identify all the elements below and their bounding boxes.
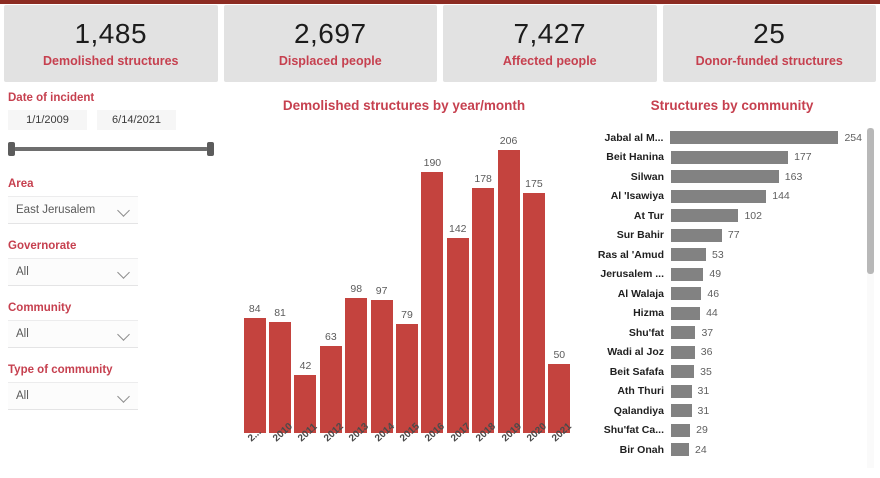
- community-bar-row[interactable]: Jerusalem ...49: [584, 265, 862, 285]
- column-bar[interactable]: [345, 298, 367, 433]
- column-bar[interactable]: [421, 172, 443, 433]
- community-bar-value: 177: [794, 151, 812, 163]
- chart-title-demolished-by-year: Demolished structures by year/month: [228, 98, 580, 113]
- governorate-dropdown-value: All: [8, 266, 116, 278]
- column-bar[interactable]: [269, 322, 291, 433]
- community-bar-row[interactable]: Qalandiya31: [584, 401, 862, 421]
- community-bar-fill[interactable]: [671, 307, 700, 320]
- column-bar[interactable]: [396, 324, 418, 433]
- column-bar[interactable]: [472, 188, 494, 433]
- filter-label-community: Community: [8, 302, 222, 314]
- community-bar-fill[interactable]: [671, 346, 695, 359]
- community-bar-track: 44: [671, 304, 862, 324]
- chart-demolished-by-year: Demolished structures by year/month 8481…: [228, 92, 580, 478]
- community-bar-value: 24: [695, 444, 707, 456]
- community-dropdown[interactable]: All: [8, 320, 138, 348]
- column-value-label: 81: [260, 307, 300, 319]
- community-bar-track: 254: [670, 128, 862, 148]
- kpi-card-demolished-structures[interactable]: 1,485 Demolished structures: [4, 5, 218, 82]
- chevron-down-icon: [116, 388, 132, 404]
- filter-label-area: Area: [8, 178, 222, 190]
- community-bar-row[interactable]: Beit Safafa35: [584, 362, 862, 382]
- community-bar-fill[interactable]: [671, 365, 694, 378]
- community-bar-row[interactable]: At Tur102: [584, 206, 862, 226]
- dashboard-page: 1,485 Demolished structures 2,697 Displa…: [0, 0, 880, 478]
- kpi-value: 2,697: [294, 19, 367, 48]
- community-bar-row[interactable]: Shu'fat Ca...29: [584, 421, 862, 441]
- filter-label-date: Date of incident: [8, 92, 222, 104]
- column-bar[interactable]: [523, 193, 545, 433]
- community-bar-value: 36: [701, 346, 713, 358]
- community-bar-label: Wadi al Joz: [584, 346, 671, 358]
- top-accent-strip: [0, 0, 880, 4]
- community-bar-label: Al Walaja: [584, 288, 671, 300]
- slider-track: [14, 147, 208, 151]
- community-bar-track: 46: [671, 284, 862, 304]
- date-start-input[interactable]: 1/1/2009: [8, 110, 87, 130]
- kpi-card-affected-people[interactable]: 7,427 Affected people: [443, 5, 657, 82]
- community-bar-label: Hizma: [584, 307, 671, 319]
- community-bar-value: 46: [707, 288, 719, 300]
- community-bar-fill[interactable]: [671, 268, 703, 281]
- column-chart-plot-area: 8481426398977919014217820617550: [242, 128, 572, 433]
- chevron-down-icon: [116, 264, 132, 280]
- column-bar[interactable]: [320, 346, 342, 433]
- community-bar-row[interactable]: Wadi al Joz36: [584, 343, 862, 363]
- chart-title-structures-by-community: Structures by community: [584, 98, 880, 113]
- community-bar-fill[interactable]: [671, 170, 779, 183]
- community-bar-track: 31: [671, 382, 862, 402]
- community-bar-row[interactable]: Ath Thuri31: [584, 382, 862, 402]
- community-bar-row[interactable]: Silwan163: [584, 167, 862, 187]
- community-bar-value: 77: [728, 229, 740, 241]
- community-bar-list: Jabal al M...254Beit Hanina177Silwan163A…: [584, 128, 862, 460]
- community-bar-fill[interactable]: [671, 287, 701, 300]
- community-bar-track: 37: [671, 323, 862, 343]
- community-bar-value: 49: [709, 268, 721, 280]
- kpi-label: Demolished structures: [43, 54, 178, 68]
- community-bar-label: Qalandiya: [584, 405, 671, 417]
- community-bar-fill[interactable]: [671, 443, 689, 456]
- community-bar-value: 53: [712, 249, 724, 261]
- scrollbar-thumb[interactable]: [867, 128, 874, 274]
- governorate-dropdown[interactable]: All: [8, 258, 138, 286]
- slider-handle-right[interactable]: [207, 142, 214, 156]
- type-of-community-dropdown[interactable]: All: [8, 382, 138, 410]
- area-dropdown-value: East Jerusalem: [8, 204, 116, 216]
- date-range-slider[interactable]: [8, 142, 214, 156]
- community-bar-fill[interactable]: [671, 229, 722, 242]
- chevron-down-icon: [116, 202, 132, 218]
- community-bar-label: Ras al 'Amud: [584, 249, 671, 261]
- community-bar-label: Jabal al M...: [584, 132, 670, 144]
- community-bar-value: 44: [706, 307, 718, 319]
- kpi-label: Displaced people: [279, 54, 382, 68]
- chevron-down-icon: [116, 326, 132, 342]
- community-bar-value: 102: [744, 210, 762, 222]
- column-value-label: 175: [514, 178, 554, 190]
- community-bar-label: Bir Onah: [584, 444, 671, 456]
- kpi-label: Affected people: [503, 54, 597, 68]
- community-bar-label: Beit Hanina: [584, 151, 671, 163]
- community-bar-label: Ath Thuri: [584, 385, 671, 397]
- community-bar-track: 31: [671, 401, 862, 421]
- community-bar-track: 177: [671, 148, 862, 168]
- slider-handle-left[interactable]: [8, 142, 15, 156]
- community-bar-fill[interactable]: [671, 404, 692, 417]
- column-bar[interactable]: [244, 318, 266, 433]
- community-bar-fill[interactable]: [671, 424, 690, 437]
- column-value-label: 206: [489, 135, 529, 147]
- community-chart-scrollbar[interactable]: [867, 128, 874, 468]
- community-bar-row[interactable]: Beit Hanina177: [584, 148, 862, 168]
- community-bar-row[interactable]: Shu'fat37: [584, 323, 862, 343]
- kpi-card-donor-funded-structures[interactable]: 25 Donor-funded structures: [663, 5, 877, 82]
- community-bar-label: Silwan: [584, 171, 671, 183]
- type-of-community-dropdown-value: All: [8, 390, 116, 402]
- community-bar-fill[interactable]: [671, 385, 692, 398]
- community-bar-label: Shu'fat: [584, 327, 671, 339]
- community-bar-row[interactable]: Sur Bahir77: [584, 226, 862, 246]
- date-end-input[interactable]: 6/14/2021: [97, 110, 176, 130]
- community-bar-label: At Tur: [584, 210, 671, 222]
- date-range-inputs: 1/1/2009 6/14/2021: [8, 110, 222, 130]
- community-bar-value: 37: [701, 327, 713, 339]
- community-bar-track: 24: [671, 440, 862, 460]
- community-bar-value: 35: [700, 366, 712, 378]
- area-dropdown[interactable]: East Jerusalem: [8, 196, 138, 224]
- column-chart-x-axis: 2...201020112012201320142015201620172018…: [242, 436, 572, 476]
- filter-governorate: Governorate All: [0, 240, 222, 286]
- community-bar-fill[interactable]: [671, 190, 766, 203]
- community-bar-value: 31: [698, 405, 710, 417]
- filter-community: Community All: [0, 302, 222, 348]
- community-bar-track: 77: [671, 226, 862, 246]
- chart-structures-by-community: Structures by community Jabal al M...254…: [584, 92, 880, 478]
- kpi-card-row: 1,485 Demolished structures 2,697 Displa…: [0, 5, 880, 82]
- community-bar-row[interactable]: Hizma44: [584, 304, 862, 324]
- community-bar-row[interactable]: Ras al 'Amud53: [584, 245, 862, 265]
- community-bar-track: 36: [671, 343, 862, 363]
- community-bar-track: 49: [671, 265, 862, 285]
- filter-label-type-of-community: Type of community: [8, 364, 222, 376]
- community-bar-value: 163: [785, 171, 803, 183]
- column-value-label: 97: [362, 285, 402, 297]
- column-bar[interactable]: [498, 150, 520, 433]
- community-bar-row[interactable]: Jabal al M...254: [584, 128, 862, 148]
- community-bar-row[interactable]: Al 'Isawiya144: [584, 187, 862, 207]
- filter-area: Area East Jerusalem: [0, 178, 222, 224]
- community-bar-label: Sur Bahir: [584, 229, 671, 241]
- column-value-label: 50: [539, 349, 579, 361]
- community-dropdown-value: All: [8, 328, 116, 340]
- community-bar-track: 53: [671, 245, 862, 265]
- kpi-value: 25: [753, 19, 785, 48]
- community-bar-track: 29: [671, 421, 862, 441]
- filter-date-of-incident: Date of incident 1/1/2009 6/14/2021: [0, 92, 222, 156]
- community-bar-value: 29: [696, 424, 708, 436]
- community-bar-fill[interactable]: [671, 248, 706, 261]
- kpi-value: 7,427: [513, 19, 586, 48]
- column-value-label: 190: [412, 157, 452, 169]
- community-bar-fill[interactable]: [671, 326, 695, 339]
- kpi-card-displaced-people[interactable]: 2,697 Displaced people: [224, 5, 438, 82]
- community-bar-label: Jerusalem ...: [584, 268, 671, 280]
- filter-type-of-community: Type of community All: [0, 364, 222, 410]
- community-bar-value: 144: [772, 190, 790, 202]
- community-bar-label: Al 'Isawiya: [584, 190, 671, 202]
- filter-panel: Date of incident 1/1/2009 6/14/2021 Area…: [0, 92, 222, 478]
- community-bar-label: Beit Safafa: [584, 366, 671, 378]
- community-bar-track: 35: [671, 362, 862, 382]
- community-bar-row[interactable]: Al Walaja46: [584, 284, 862, 304]
- kpi-value: 1,485: [74, 19, 147, 48]
- community-bar-fill[interactable]: [671, 151, 788, 164]
- filter-label-governorate: Governorate: [8, 240, 222, 252]
- community-bar-track: 144: [671, 187, 862, 207]
- community-bar-fill[interactable]: [671, 209, 738, 222]
- community-bar-value: 31: [698, 385, 710, 397]
- community-bar-track: 163: [671, 167, 862, 187]
- community-bar-value: 254: [844, 132, 862, 144]
- community-bar-row[interactable]: Bir Onah24: [584, 440, 862, 460]
- community-bar-fill[interactable]: [670, 131, 838, 144]
- kpi-label: Donor-funded structures: [696, 54, 843, 68]
- column-bar[interactable]: [447, 238, 469, 433]
- community-bar-track: 102: [671, 206, 862, 226]
- community-bar-label: Shu'fat Ca...: [584, 424, 671, 436]
